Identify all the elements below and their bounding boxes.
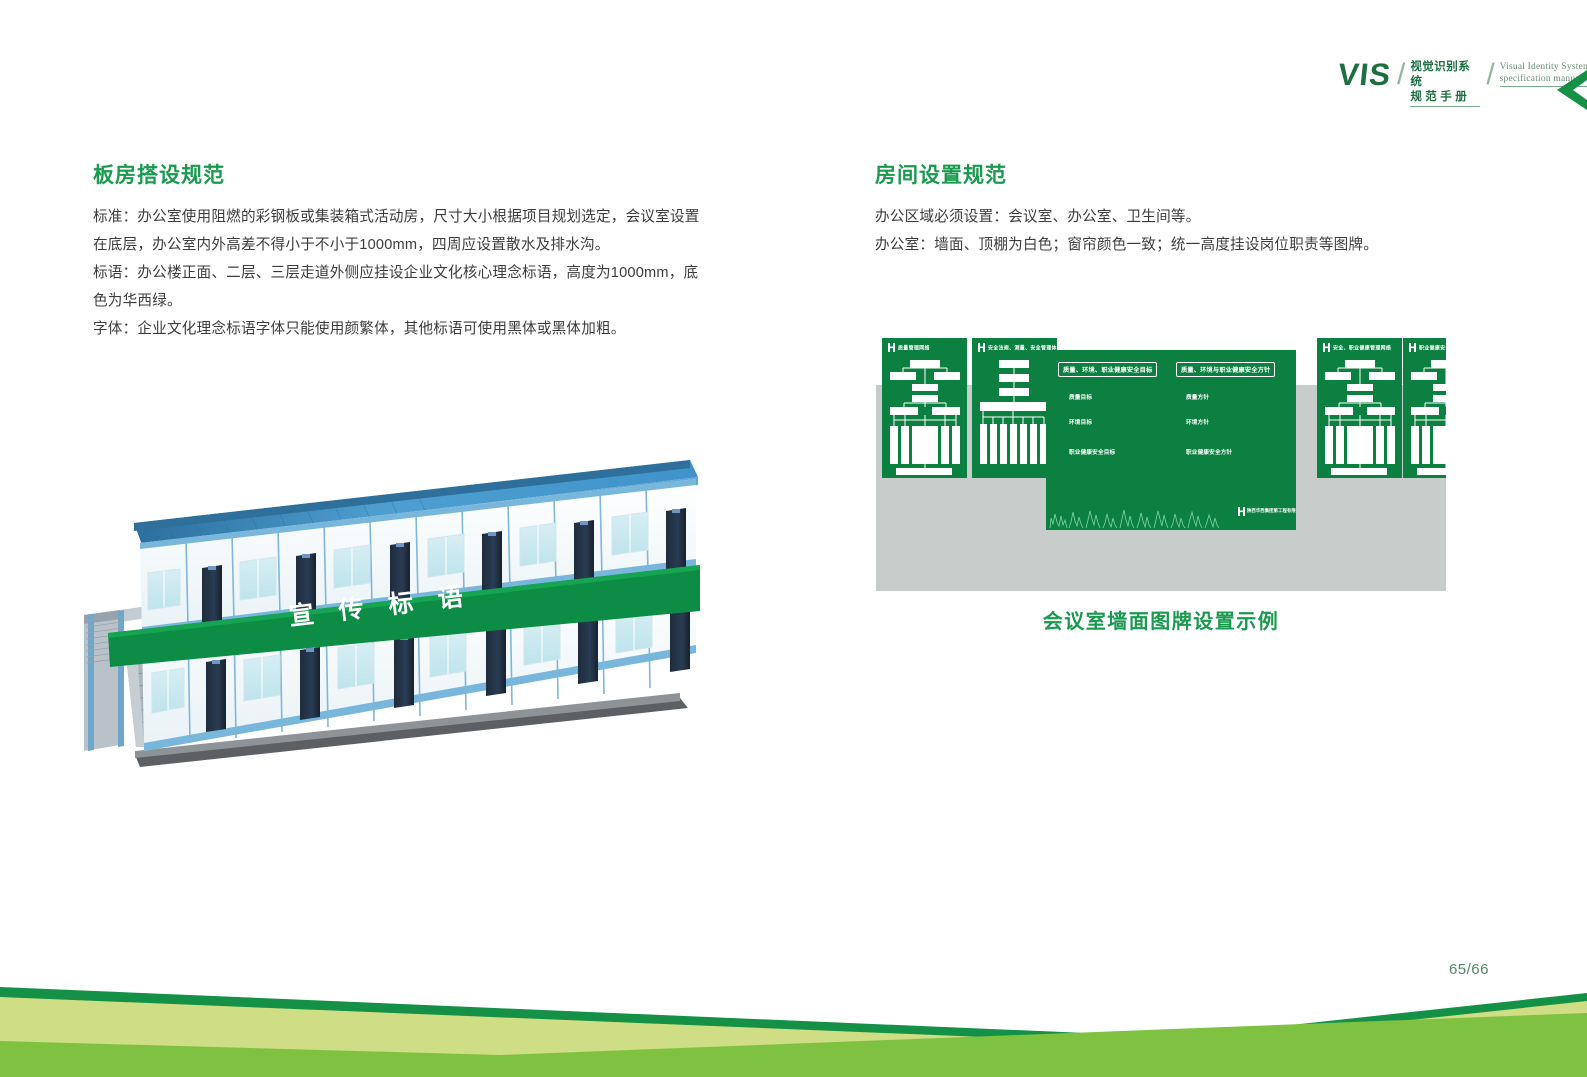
board-policy-item: 质量方针 [1186,393,1209,401]
board-goal-item: 职业健康安全目标 [1069,448,1115,456]
prefab-building-svg [80,455,720,775]
company-logo-icon [1323,343,1330,352]
footer-decoration [0,957,1587,1077]
right-paragraph-1: 办公区域必须设置：会议室、办公室、卫生间等。 [875,203,1445,231]
board-goal-item: 质量目标 [1069,393,1092,401]
board-policy-item: 环境方针 [1186,418,1209,426]
network-board-quality: 质量管理网络 [882,338,967,478]
network-board-safety-health: 安全、职业健康管理网络 [1317,338,1402,478]
network-board-title: 质量管理网络 [898,345,930,352]
org-chart-diagram [1403,354,1446,478]
org-chart-diagram [972,354,1057,478]
right-section-body: 办公区域必须设置：会议室、办公室、卫生间等。 办公室：墙面、顶棚为白色；窗帘颜色… [875,203,1445,259]
network-board-occ-health: 职业健康安全管理网络 [1403,338,1446,478]
org-chart-diagram [1317,354,1402,478]
left-paragraph-1: 标准：办公室使用阻燃的彩钢板或集装箱式活动房，尺寸大小根据项目规划选定，会议室设… [93,203,708,259]
page-root: VIS / 视觉识别系统 规范手册 / Visual Identity Syst… [0,0,1587,1077]
company-logo-icon [888,343,895,352]
vis-cn-line2: 规范手册 [1410,90,1480,107]
left-section-body: 标准：办公室使用阻燃的彩钢板或集装箱式活动房，尺寸大小根据项目规划选定，会议室设… [93,203,708,343]
vis-slash-2: / [1486,58,1494,92]
vis-slash-1: / [1397,58,1405,92]
vis-chinese-title: 视觉识别系统 规范手册 [1410,58,1480,107]
company-logo-icon [1238,507,1245,516]
company-logo-icon [1409,343,1416,352]
city-skyline-icon [1046,502,1236,528]
board-goal-item: 环境目标 [1069,418,1092,426]
vis-header: VIS / 视觉识别系统 规范手册 / Visual Identity Syst… [1338,58,1578,114]
right-section-heading: 房间设置规范 [875,159,1007,189]
board-title-goals: 质量、环境、职业健康安全目标 [1058,362,1157,377]
left-section-heading: 板房搭设规范 [93,159,225,189]
wall-illustration-caption: 会议室墙面图牌设置示例 [876,605,1446,634]
vis-wordmark: VIS [1336,58,1393,92]
vis-cn-line1: 视觉识别系统 [1410,60,1480,90]
network-board-hse-system: 安全法规、测量、安全管理体系 [972,338,1057,478]
left-paragraph-2: 标语：办公楼正面、二层、三层走道外侧应挂设企业文化核心理念标语，高度为1000m… [93,259,708,315]
board-policy-item: 职业健康安全方针 [1186,448,1232,456]
company-logo-icon [978,343,985,352]
left-paragraph-3: 字体：企业文化理念标语字体只能使用颜繁体，其他标语可使用黑体或黑体加粗。 [93,315,708,343]
board-company-logo: 陕西华西集团第工程有限 [1238,507,1288,516]
policy-and-goals-board: 质量、环境、职业健康安全目标 质量、环境与职业健康安全方针 质量目标 环境目标 … [1046,350,1296,530]
prefab-building-illustration: 宣 传 标 语 [80,455,720,775]
org-chart-diagram [882,354,967,478]
chevron-left-icon [1543,68,1587,112]
network-board-title: 安全、职业健康管理网络 [1333,345,1391,352]
network-board-title: 职业健康安全管理网络 [1419,345,1446,352]
board-title-policy: 质量、环境与职业健康安全方针 [1176,362,1275,377]
board-company-name: 陕西华西集团第工程有限 [1247,509,1296,515]
right-paragraph-2: 办公室：墙面、顶棚为白色；窗帘颜色一致；统一高度挂设岗位职责等图牌。 [875,231,1445,259]
meeting-room-wall-illustration: 质量管理网络 [876,338,1446,591]
